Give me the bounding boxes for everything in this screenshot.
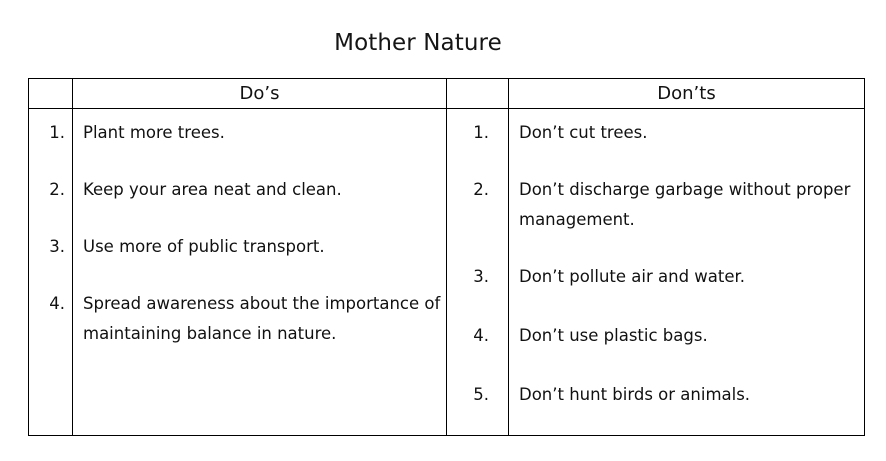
- donts-text-list: Don’t cut trees. Don’t discharge garbage…: [509, 109, 864, 435]
- header-label-donts: Don’ts: [509, 79, 864, 108]
- page-title: Mother Nature: [0, 29, 836, 57]
- list-item-number: 2.: [447, 175, 489, 205]
- header-cell-dos: Do’s: [73, 79, 447, 109]
- list-item-number: 1.: [29, 118, 65, 148]
- list-item-number: 3.: [447, 262, 489, 292]
- header-label-dos: Do’s: [73, 79, 446, 108]
- header-cell-donts: Don’ts: [509, 79, 865, 109]
- dos-text-cell: Plant more trees. Keep your area neat an…: [73, 109, 447, 436]
- table-body-row: 1. 2. 3. 4. Plant more trees. Keep your …: [29, 109, 865, 436]
- list-item: Don’t use plastic bags.: [519, 321, 860, 351]
- header-cell-donts-number: [447, 79, 509, 109]
- dos-text-list: Plant more trees. Keep your area neat an…: [73, 109, 446, 435]
- donts-number-cell: 1. 2. 3. 4. 5.: [447, 109, 509, 436]
- list-item: Don’t cut trees.: [519, 118, 860, 148]
- list-item: Plant more trees.: [83, 118, 442, 148]
- list-item-number: 4.: [29, 289, 65, 319]
- list-item: Spread awareness about the importance of…: [83, 289, 442, 349]
- list-item-number: 3.: [29, 232, 65, 262]
- header-cell-dos-number: [29, 79, 73, 109]
- list-item: Don’t discharge garbage without proper m…: [519, 175, 860, 235]
- list-item-number: 2.: [29, 175, 65, 205]
- table-header-row: Do’s Don’ts: [29, 79, 865, 109]
- list-item: Use more of public transport.: [83, 232, 442, 262]
- list-item-number: 1.: [447, 118, 489, 148]
- dos-number-list: 1. 2. 3. 4.: [29, 109, 72, 435]
- list-item: Don’t pollute air and water.: [519, 262, 860, 292]
- dos-donts-table: Do’s Don’ts 1. 2. 3. 4.: [28, 78, 865, 436]
- dos-number-cell: 1. 2. 3. 4.: [29, 109, 73, 436]
- list-item: Don’t hunt birds or animals.: [519, 380, 860, 410]
- list-item-number: 5.: [447, 380, 489, 410]
- list-item-number: 4.: [447, 321, 489, 351]
- donts-number-list: 1. 2. 3. 4. 5.: [447, 109, 508, 435]
- donts-text-cell: Don’t cut trees. Don’t discharge garbage…: [509, 109, 865, 436]
- list-item: Keep your area neat and clean.: [83, 175, 442, 205]
